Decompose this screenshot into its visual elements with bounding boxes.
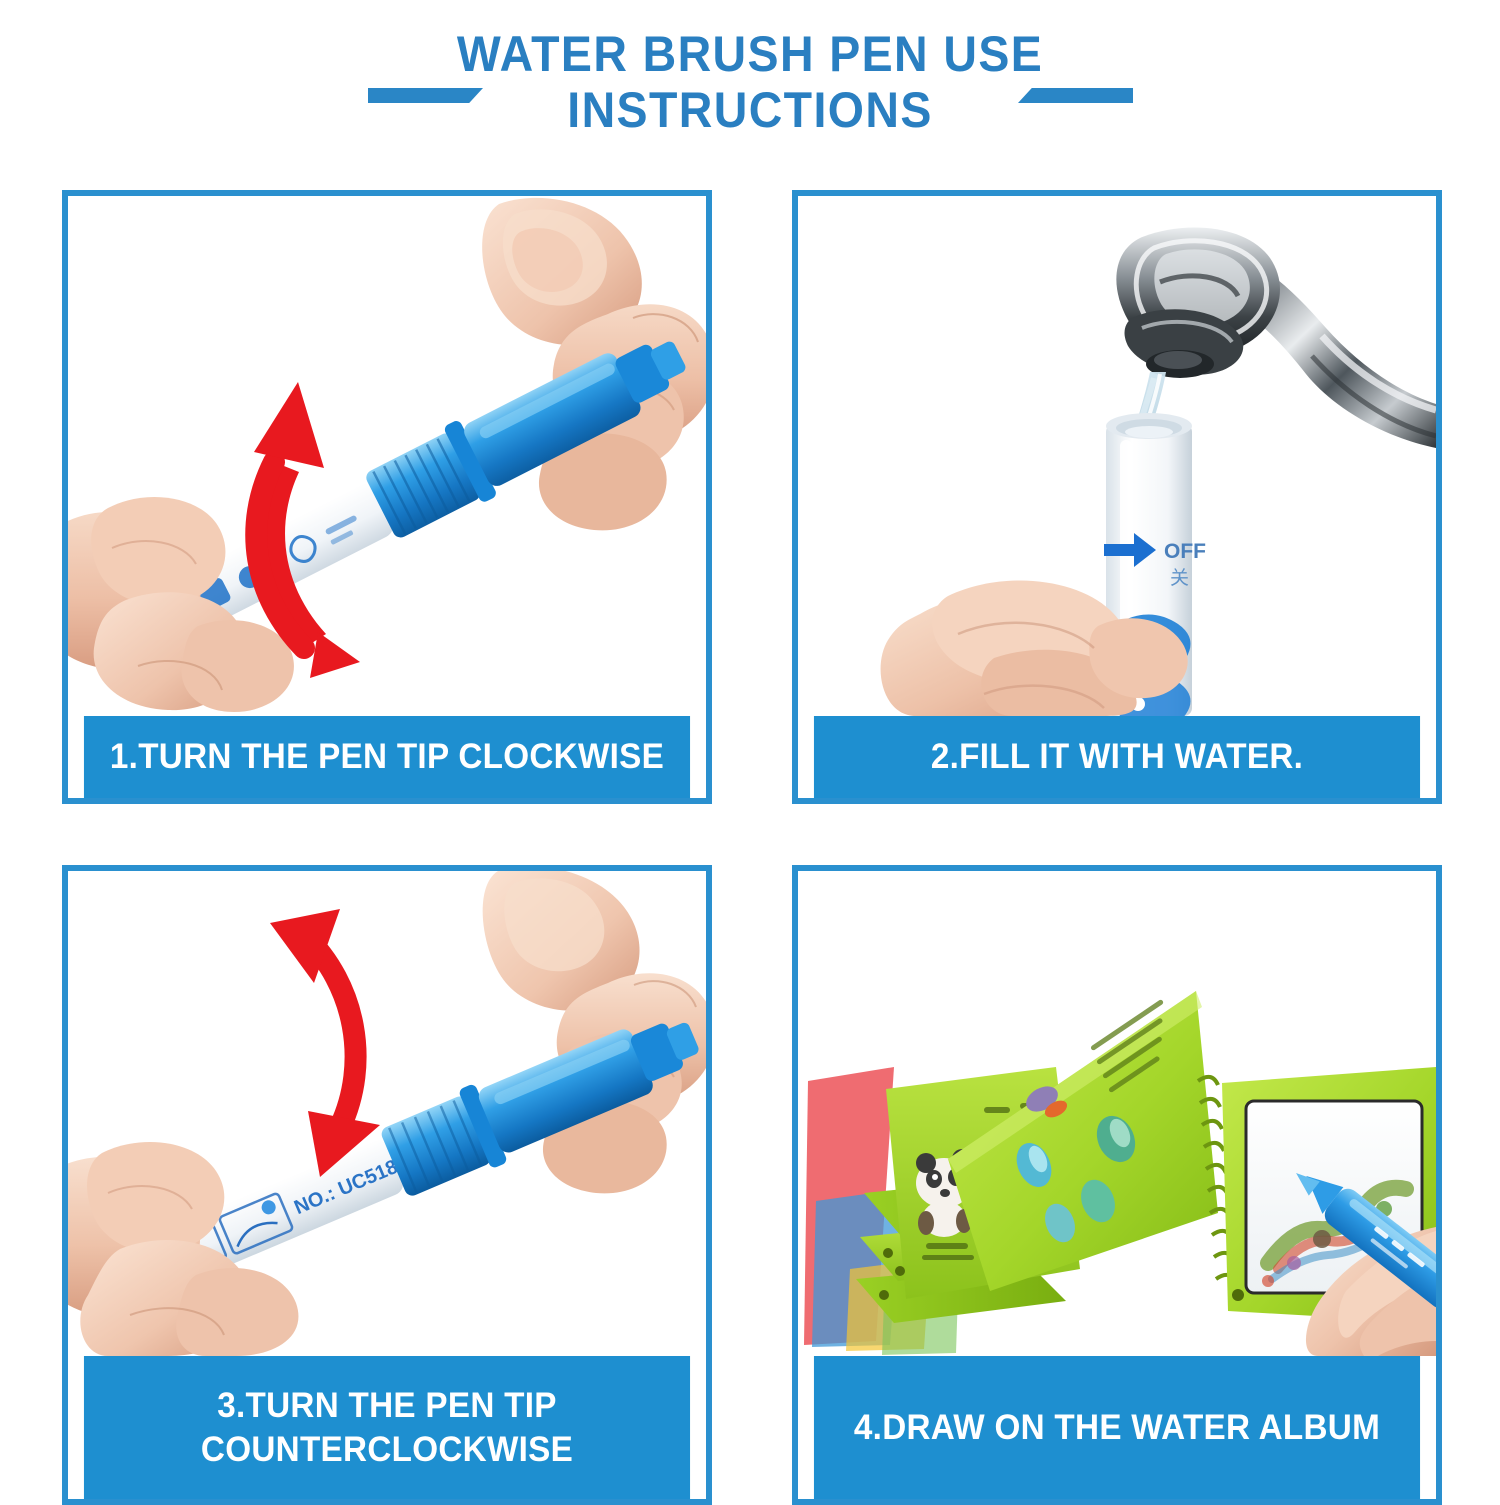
caption-step-3-line-1: 3.TURN THE PEN TIP xyxy=(201,1384,573,1428)
instruction-panel-grid: 1.TURN THE PEN TIP CLOCKWISE xyxy=(0,170,1500,1500)
photo-step-3-turn-counterclockwise: NO.: UC518 xyxy=(68,871,706,1356)
illustration-draw-on-water-album xyxy=(798,871,1436,1356)
pen-off-text: OFF xyxy=(1164,540,1206,563)
illustration-turn-pen-counterclockwise: NO.: UC518 xyxy=(68,871,706,1356)
photo-step-2-fill-with-water: OFF 关 xyxy=(798,196,1436,716)
instruction-panel-step-2: OFF 关 xyxy=(792,190,1442,804)
illustration-fill-pen-with-water: OFF 关 xyxy=(798,196,1436,716)
caption-step-3: 3.TURN THE PEN TIP COUNTERCLOCKWISE xyxy=(84,1356,690,1499)
caption-step-4-line-1: 4.DRAW ON THE WATER ALBUM xyxy=(854,1406,1380,1450)
photo-step-1-turn-clockwise xyxy=(68,196,706,716)
caption-step-2: 2.FILL IT WITH WATER. xyxy=(814,716,1420,798)
page-title: WATER BRUSH PEN USE INSTRUCTIONS xyxy=(53,26,1448,138)
caption-step-3-line-2: COUNTERCLOCKWISE xyxy=(201,1428,573,1472)
caption-step-4: 4.DRAW ON THE WATER ALBUM xyxy=(814,1356,1420,1499)
instruction-panel-step-3: NO.: UC518 xyxy=(62,865,712,1505)
pen-off-label-cn: 关 xyxy=(1170,567,1189,589)
instruction-panel-step-4: 4.DRAW ON THE WATER ALBUM xyxy=(792,865,1442,1505)
caption-step-1-line-1: 1.TURN THE PEN TIP CLOCKWISE xyxy=(110,735,664,779)
photo-step-4-draw-on-water-album xyxy=(798,871,1436,1356)
page-title-line-2: INSTRUCTIONS xyxy=(53,82,1448,138)
caption-step-2-line-1: 2.FILL IT WITH WATER. xyxy=(931,735,1303,779)
illustration-turn-pen-clockwise xyxy=(68,196,706,716)
instruction-panel-step-1: 1.TURN THE PEN TIP CLOCKWISE xyxy=(62,190,712,804)
caption-step-1: 1.TURN THE PEN TIP CLOCKWISE xyxy=(84,716,690,798)
page-title-line-1: WATER BRUSH PEN USE xyxy=(53,26,1448,82)
page-header: WATER BRUSH PEN USE INSTRUCTIONS xyxy=(0,0,1500,170)
